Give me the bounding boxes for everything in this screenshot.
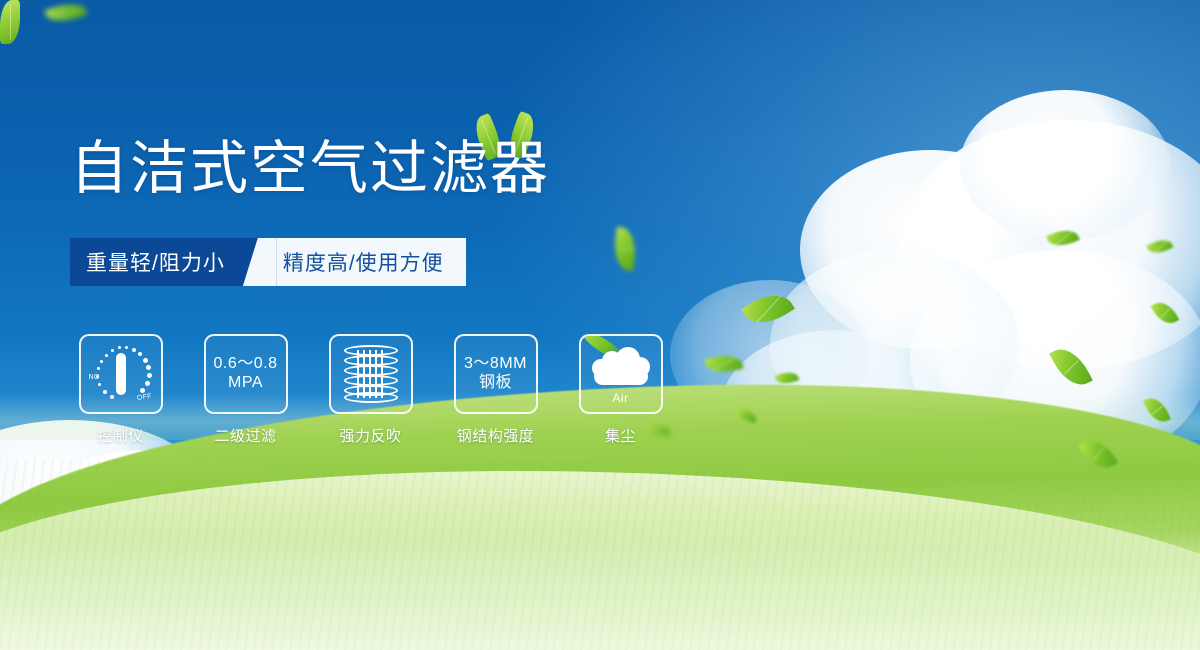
feature-label: 二级过滤 [214,425,276,446]
air-label: Air [590,391,652,405]
feature-icon-box: 0.6～0.8 MPA [204,334,288,414]
hero-banner: 自洁式空气过滤器 重量轻/阻力小 精度高/使用方便 [0,0,1200,650]
grass-field [0,410,1200,650]
feature-icon-box: 3～8MM 钢板 [454,334,538,414]
feature-icon-box: NO OFF [79,334,163,414]
subtitle-right: 精度高/使用方便 [277,238,466,286]
pressure-line-2: MPA [214,374,278,393]
dial-needle [116,353,126,395]
feature-icon-box [329,334,413,414]
filter-coil-icon [344,345,398,403]
cloud-base [594,368,648,385]
page-title: 自洁式空气过滤器 [70,140,550,198]
feature-item-pressure[interactable]: 0.6～0.8 MPA 二级过滤 [197,334,294,446]
steel-line-2: 钢板 [464,374,527,393]
subtitle-divider [243,238,277,286]
steel-line-1: 3～8MM [464,355,527,374]
dial-off-label: OFF [136,393,152,402]
feature-label: 钢结构强度 [457,425,535,446]
grass-highlight [0,530,1200,650]
subtitle-left: 重量轻/阻力小 [70,238,243,286]
air-cloud-icon: Air [590,345,652,403]
feature-list: NO OFF 控制仪 0.6～0.8 MPA 二级过滤 [72,334,669,446]
steel-plate-text-icon: 3～8MM 钢板 [464,355,527,393]
feature-icon-box: Air [579,334,663,414]
feature-label: 集尘 [605,425,636,446]
feature-item-control[interactable]: NO OFF 控制仪 [72,334,169,446]
feature-label: 强力反吹 [339,425,401,446]
feature-label: 控制仪 [97,425,144,446]
control-dial-icon: NO OFF [89,344,153,404]
pressure-text-icon: 0.6～0.8 MPA [214,355,278,393]
dial-no-label: NO [89,374,100,381]
feature-item-dust[interactable]: Air 集尘 [572,334,669,446]
feature-item-blowback[interactable]: 强力反吹 [322,334,419,446]
pressure-line-1: 0.6～0.8 [214,355,278,374]
feature-item-steel[interactable]: 3～8MM 钢板 钢结构强度 [447,334,544,446]
subtitle-bar: 重量轻/阻力小 精度高/使用方便 [70,238,466,286]
